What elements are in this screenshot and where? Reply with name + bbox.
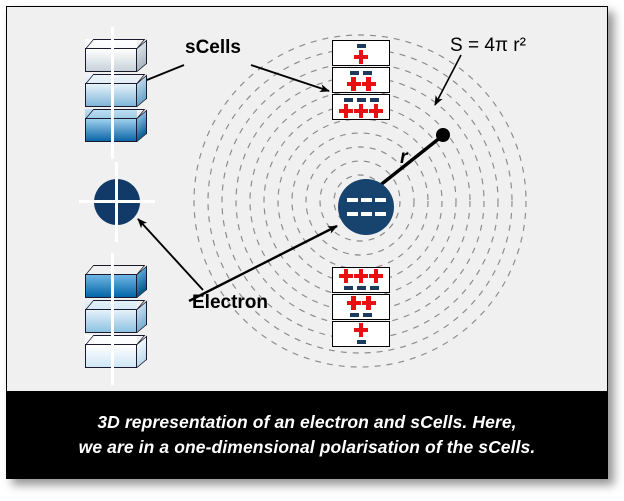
plus-row (354, 49, 368, 64)
electron-charge-dash (347, 198, 358, 202)
leader-electron-to-center (189, 226, 337, 301)
cube-stack-top (85, 39, 163, 144)
minus-row (350, 311, 372, 319)
cube (85, 265, 143, 299)
plus-sign (339, 104, 353, 118)
screenshot-root: sCells Electron S = 4π r² r 3D represent… (0, 0, 624, 501)
figure-caption: 3D representation of an electron and sCe… (7, 391, 607, 478)
electron-core (338, 179, 394, 235)
cube (85, 300, 143, 334)
minus-sign (363, 71, 372, 75)
plus-sign (362, 296, 376, 310)
cube (85, 39, 143, 73)
minus-sign (370, 98, 379, 102)
figure-panel: sCells Electron S = 4π r² r 3D represent… (6, 6, 608, 479)
label-scells: sCells (185, 37, 241, 59)
leader-formula-to-shell (435, 55, 461, 105)
electron-charge-dash (375, 198, 386, 202)
plus-sign (362, 77, 376, 91)
minus-sign (350, 313, 359, 317)
plus-sign (347, 77, 361, 91)
plus-row (347, 76, 376, 91)
electron-charge-dash (375, 212, 386, 216)
label-surface-formula: S = 4π r² (450, 35, 526, 57)
polarisation-axis-line (111, 27, 114, 159)
minus-sign (363, 313, 372, 317)
label-electron: Electron (192, 292, 268, 314)
scell-box-bottom-3 (332, 321, 390, 347)
label-radius: r (400, 147, 407, 169)
scell-box-top-2 (332, 67, 390, 93)
cube-stack-bottom (85, 265, 163, 370)
electron-charge-dash (347, 212, 358, 216)
minus-sign (357, 44, 366, 48)
left-electron-group (87, 172, 147, 232)
plus-row (339, 268, 383, 283)
minus-sign (357, 286, 366, 290)
polarisation-axis-line (111, 253, 114, 385)
caption-line-2: we are in a one-dimensional polarisation… (79, 435, 536, 460)
plus-sign (369, 104, 383, 118)
plus-sign (354, 50, 368, 64)
plus-row (347, 295, 376, 310)
scell-box-top-3 (332, 94, 390, 120)
scell-box-bottom-2 (332, 294, 390, 320)
minus-row (357, 338, 366, 346)
plus-sign (339, 269, 353, 283)
minus-sign (344, 286, 353, 290)
caption-line-1: 3D representation of an electron and sCe… (97, 410, 516, 435)
cube (85, 109, 143, 143)
minus-sign (357, 98, 366, 102)
plus-sign (347, 296, 361, 310)
scell-box-top-1 (332, 40, 390, 66)
plus-sign (369, 269, 383, 283)
crosshair-vertical (115, 162, 118, 242)
minus-sign (344, 98, 353, 102)
leader-scells-to-box (251, 65, 329, 91)
scell-box-bottom-1 (332, 267, 390, 293)
minus-sign (370, 286, 379, 290)
plus-sign (354, 104, 368, 118)
diagram-canvas: sCells Electron S = 4π r² r (7, 7, 607, 390)
electron-charge-dash (361, 212, 372, 216)
minus-sign (357, 340, 366, 344)
minus-sign (350, 71, 359, 75)
minus-row (344, 284, 379, 292)
cube (85, 74, 143, 108)
plus-row (339, 103, 383, 118)
plus-row (354, 322, 368, 337)
electron-charge-dash (361, 198, 372, 202)
plus-sign (354, 269, 368, 283)
plus-sign (354, 323, 368, 337)
cube (85, 335, 143, 369)
